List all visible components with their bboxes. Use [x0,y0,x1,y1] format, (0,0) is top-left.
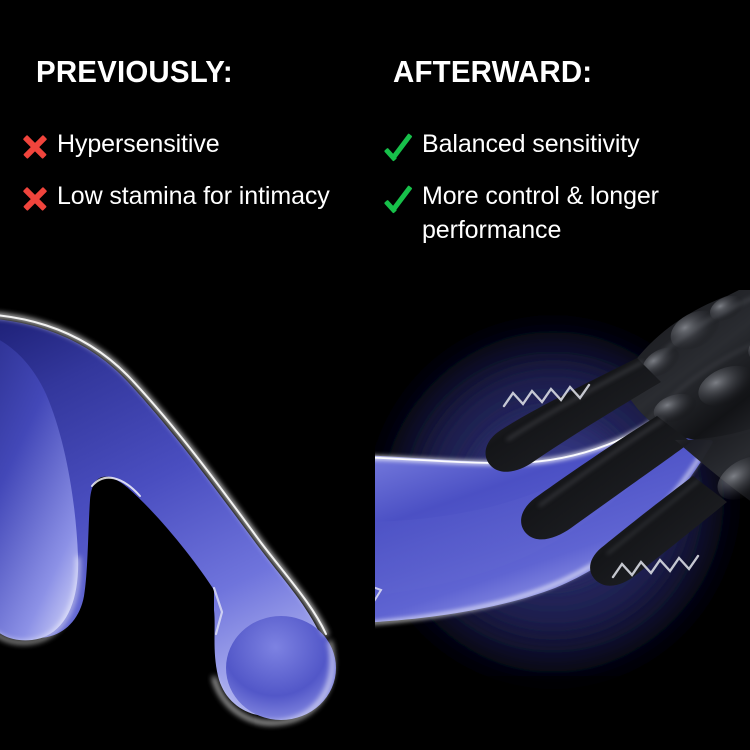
column-previously: PREVIOUSLY: Hypersensitive Low stamina f… [0,0,375,300]
cross-icon [18,182,52,216]
bullet-list-previously: Hypersensitive Low stamina for intimacy [18,128,358,232]
heading-previously: PREVIOUSLY: [36,56,233,87]
list-item: Balanced sensitivity [383,128,723,164]
list-item-label: Low stamina for intimacy [52,180,330,214]
list-item-label: Balanced sensitivity [417,128,640,162]
cross-icon [18,130,52,164]
list-item: Hypersensitive [18,128,358,164]
list-item-label: More control & longer performance [417,180,723,247]
column-afterward: AFTERWARD: Balanced sensitivity More con… [375,0,750,300]
bullet-list-afterward: Balanced sensitivity More control & long… [383,128,723,263]
illustration-after [375,290,750,750]
check-icon [383,182,417,216]
heading-afterward: AFTERWARD: [393,56,592,87]
bottom-vignette [375,676,750,750]
illustration-before [0,290,375,750]
list-item-label: Hypersensitive [52,128,220,162]
list-item: More control & longer performance [383,180,723,247]
comparison-graphic: PREVIOUSLY: Hypersensitive Low stamina f… [0,0,750,750]
list-item: Low stamina for intimacy [18,180,358,216]
check-icon [383,130,417,164]
